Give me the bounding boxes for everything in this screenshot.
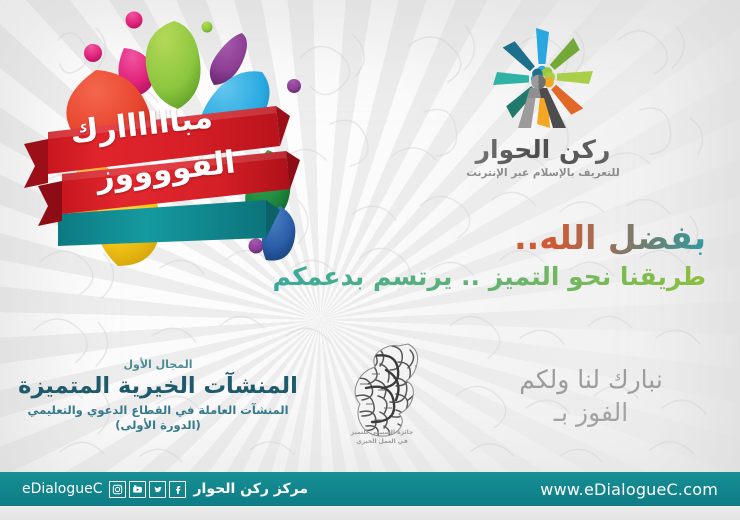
award-category-title: المنشآت الخيرية المتميزة — [8, 372, 308, 400]
poster-canvas: مباااااارك الفووووز — [0, 0, 740, 520]
footer-social-handle: eDialogueC — [22, 481, 102, 497]
headline-line-2: طريقنا نحو التميز .. يرتسم بدعمكم — [126, 260, 706, 294]
headline-line-1: بفضل الله.. — [126, 218, 706, 258]
award-category-round: (الدورة الأولى) — [8, 418, 308, 432]
award-category-subtitle: المنشآت العاملة في القطاع الدعوي والتعلي… — [8, 403, 308, 417]
footer-brand-name-arabic: مركز ركن الحوار — [193, 481, 308, 497]
social-links-row — [109, 481, 186, 498]
youtube-icon[interactable] — [129, 481, 146, 498]
award-category-eyebrow: المجال الأول — [8, 358, 308, 371]
congrats-line-1: نبارك لنا ولكم — [476, 364, 706, 397]
footer-website-url[interactable]: www.eDialogueC.com — [540, 480, 718, 499]
headline-block: بفضل الله.. طريقنا نحو التميز .. يرتسم ب… — [126, 218, 706, 294]
congrats-line-2: الفوز بـ — [476, 397, 706, 430]
congratulations-text-block: نبارك لنا ولكم الفوز بـ — [476, 364, 706, 429]
twitter-icon[interactable] — [149, 481, 166, 498]
seal-caption-line-1: جائزة السبيعي للتميز — [334, 428, 430, 437]
instagram-icon[interactable] — [109, 481, 126, 498]
brand-logo-block: ركن الحوار للتعريف بالإسلام عبر الإنترنت — [438, 22, 648, 179]
brand-name: ركن الحوار — [438, 136, 648, 165]
seal-caption-line-2: في العمل الخيري — [334, 437, 430, 446]
footer-bar: www.eDialogueC.com مركز ركن الحوار — [0, 472, 740, 506]
rukn-alhiwar-pinwheel-logo-icon — [487, 22, 599, 134]
brand-tagline: للتعريف بالإسلام عبر الإنترنت — [438, 167, 648, 179]
footer-bottom-strip — [0, 506, 740, 520]
footer-brand-group: مركز ركن الحوار — [22, 481, 308, 498]
seal-caption: جائزة السبيعي للتميز في العمل الخيري — [334, 428, 430, 446]
facebook-icon[interactable] — [169, 481, 186, 498]
award-category-block: المجال الأول المنشآت الخيرية المتميزة ال… — [8, 358, 308, 432]
